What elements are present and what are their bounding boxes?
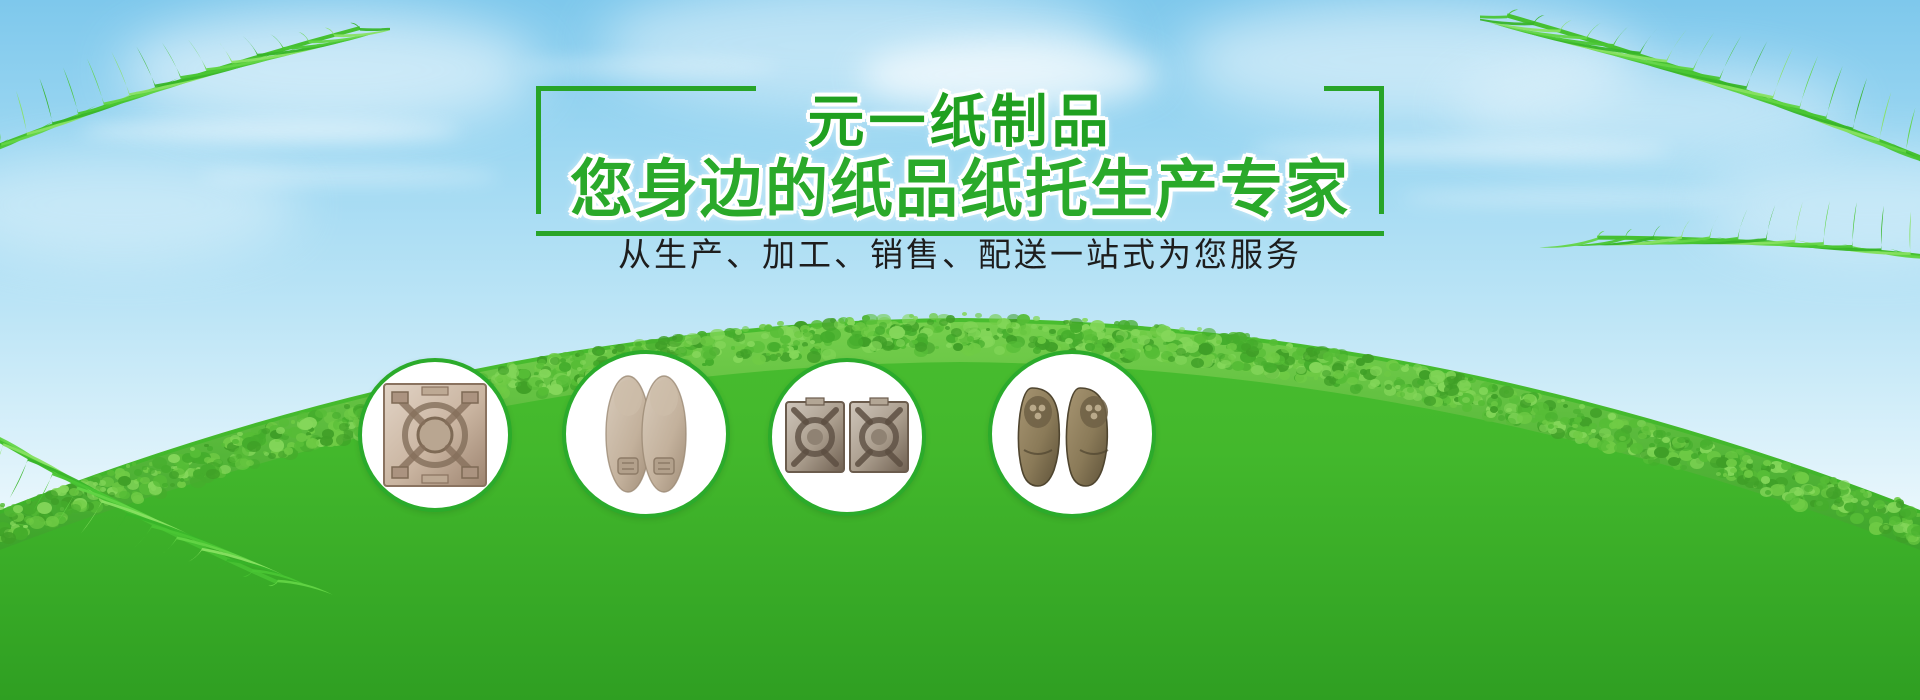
headline-top: 元一纸制品: [570, 92, 1350, 152]
product-circle-4[interactable]: [988, 350, 1156, 518]
headline-frame: 元一纸制品 您身边的纸品纸托生产专家: [536, 86, 1384, 236]
product-circle-1[interactable]: [358, 358, 512, 512]
palm-frond-icon: [0, 306, 309, 653]
banner-subtitle: 从生产、加工、销售、配送一站式为您服务: [0, 236, 1920, 276]
molded-pulp-pair-trays: [772, 362, 922, 512]
headline-main: 您身边的纸品纸托生产专家: [570, 154, 1350, 226]
promo-banner: 元一纸制品 您身边的纸品纸托生产专家 从生产、加工、销售、配送一站式为您服务: [0, 0, 1920, 700]
molded-pulp-square-tray: [362, 362, 508, 508]
molded-pulp-shoe-inserts: [566, 354, 726, 514]
product-circle-3[interactable]: [768, 358, 926, 516]
molded-pulp-shoe-forms: [992, 354, 1152, 514]
headline-block: 元一纸制品 您身边的纸品纸托生产专家: [0, 86, 1920, 236]
product-circle-2[interactable]: [562, 350, 730, 518]
